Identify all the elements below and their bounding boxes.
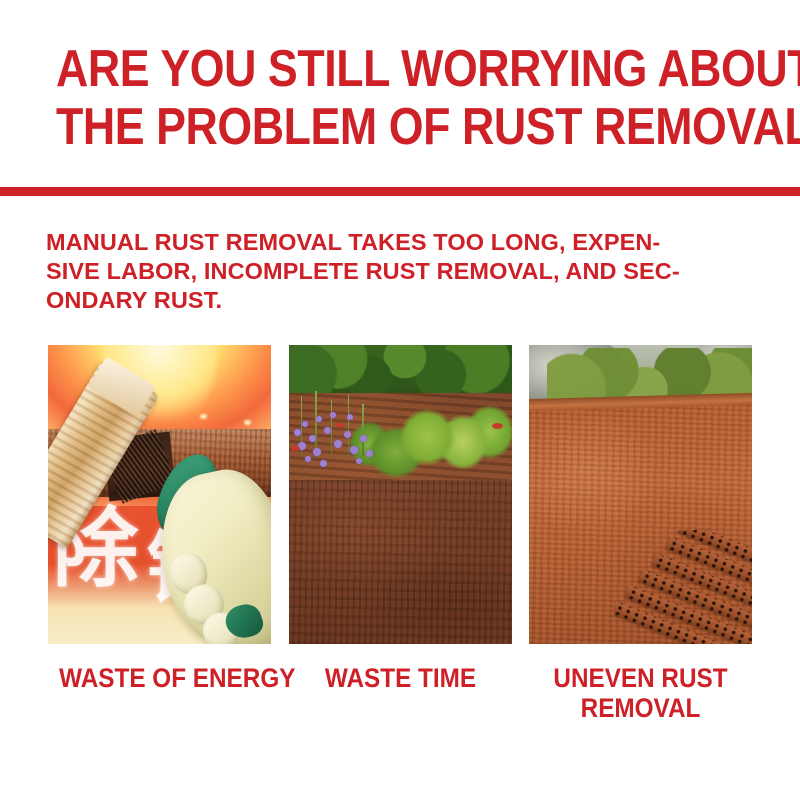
page-title: ARE YOU STILL WORRYING ABOUT THE PROBLEM… [56, 40, 744, 156]
flower-blossom [366, 450, 373, 457]
flower-blossom [344, 431, 351, 438]
light-dot [200, 414, 207, 419]
caption-uneven-rust-removal: UNEVEN RUST REMOVAL [540, 663, 741, 723]
flower-blossom [320, 460, 327, 467]
divider-rule [0, 187, 800, 196]
flower-blossom [350, 446, 358, 454]
photo-panel-rusty-planter [289, 345, 512, 644]
red-flower [291, 446, 300, 451]
flower-blossom [330, 412, 336, 418]
caption-waste-time: WASTE TIME [300, 663, 501, 723]
promo-poster: ARE YOU STILL WORRYING ABOUT THE PROBLEM… [0, 0, 800, 800]
caption-waste-of-energy: WASTE OF ENERGY [59, 663, 260, 723]
flower-blossom [334, 440, 342, 448]
flower-blossom [302, 421, 308, 427]
rusty-planter-box [289, 480, 512, 644]
red-flower [336, 423, 344, 427]
caption-line-1: WASTE OF ENERGY [59, 663, 260, 693]
flower-blossom [360, 435, 367, 442]
panel-row: 除 锈 [48, 345, 752, 644]
flower-blossom [305, 456, 311, 462]
body-line-2: SIVE LABOR, INCOMPLETE RUST REMOVAL, AND… [46, 257, 706, 286]
headline-line-2: THE PROBLEM OF RUST REMOVAL? [56, 98, 744, 156]
flower-blossom [313, 448, 321, 456]
body-paragraph: MANUAL RUST REMOVAL TAKES TOO LONG, EXPE… [46, 228, 706, 315]
headline-line-1: ARE YOU STILL WORRYING ABOUT [56, 40, 744, 98]
red-flower [492, 423, 503, 429]
light-dot [244, 420, 251, 425]
body-line-3: ONDARY RUST. [46, 286, 706, 315]
caption-line-1: WASTE TIME [300, 663, 501, 693]
flower-stem [331, 400, 333, 455]
caption-line-1: UNEVEN RUST [540, 663, 741, 693]
photo-panel-rusty-wall [529, 345, 752, 644]
caption-row: WASTE OF ENERGY WASTE TIME UNEVEN RUST R… [48, 663, 752, 723]
flower-blossom [316, 416, 322, 422]
flower-stem [362, 404, 364, 456]
caption-line-2: REMOVAL [540, 693, 741, 723]
perforated-metal-stairs [614, 530, 752, 644]
flower-blossom [309, 435, 316, 442]
purple-flower-cluster [289, 387, 392, 483]
body-line-1: MANUAL RUST REMOVAL TAKES TOO LONG, EXPE… [46, 228, 706, 257]
photo-panel-manual-brushing: 除 锈 [48, 345, 271, 644]
flower-blossom [294, 429, 301, 436]
flower-blossom [347, 414, 353, 420]
flower-blossom [356, 458, 362, 464]
